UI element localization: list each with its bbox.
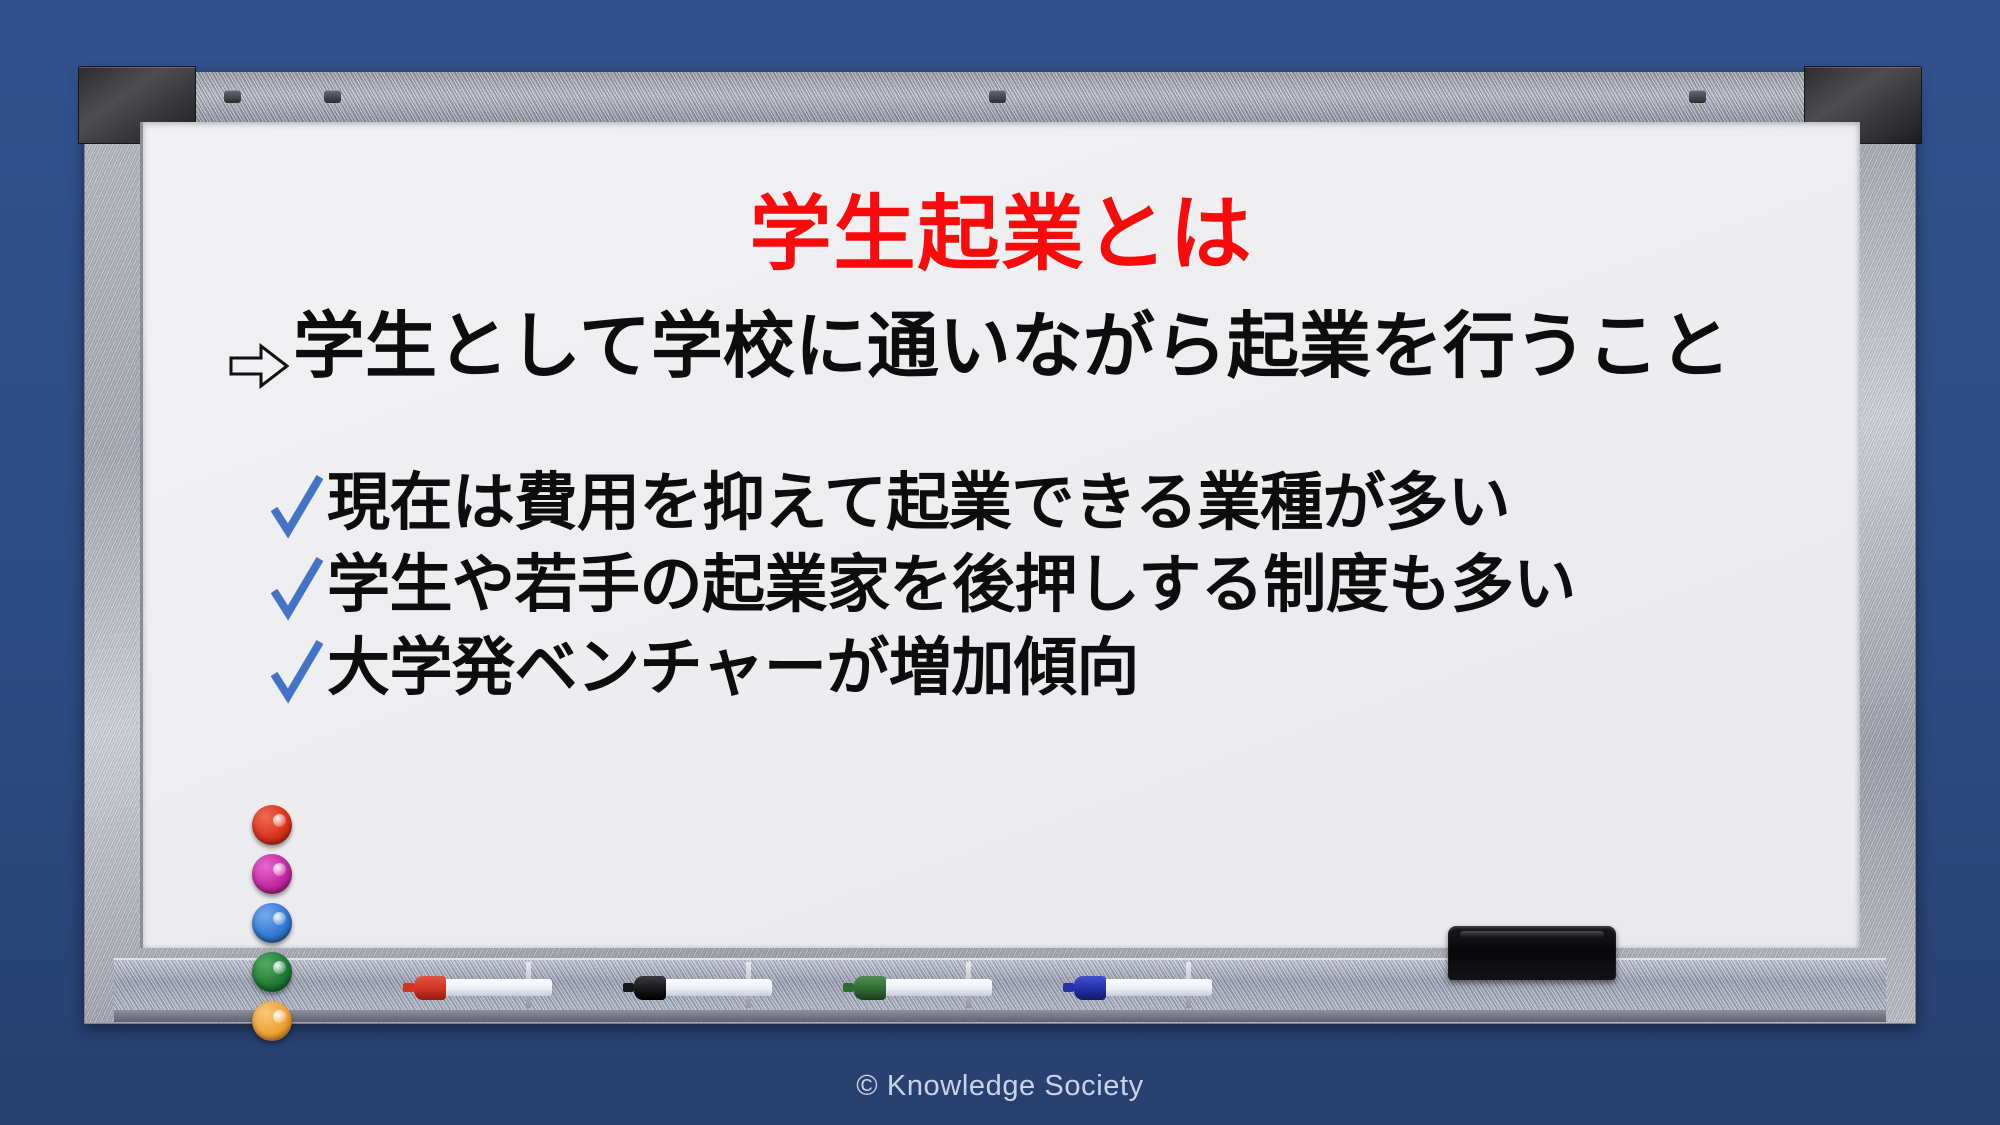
pen-tray: [114, 958, 1886, 1016]
marker-tip: [623, 983, 634, 992]
marker-tip: [843, 983, 854, 992]
list-item: 学生や若手の起業家を後押しする制度も多い: [271, 549, 1576, 621]
page-title: 学生起業とは: [143, 194, 1860, 276]
marker-cap: [1074, 976, 1106, 1000]
list-item: 現在は費用を抑えて起業できる業種が多い: [271, 467, 1576, 539]
pen-tray-surface: [114, 958, 1886, 1016]
marker-barrel: [1100, 979, 1212, 996]
check-mark-icon: [271, 555, 323, 621]
board-eraser[interactable]: [1448, 926, 1616, 980]
marker-barrel: [660, 979, 772, 996]
right-arrow-outline-icon: [229, 328, 289, 374]
frame-bolt: [224, 90, 241, 103]
list-item: 大学発ベンチャーが増加傾向: [271, 632, 1576, 704]
list-item-label: 現在は費用を抑えて起業できる業種が多い: [327, 467, 1510, 539]
slide-canvas: 学生起業とは 学生として学校に通いながら起業を行うこと: [0, 0, 2000, 1125]
whiteboard: 学生起業とは 学生として学校に通いながら起業を行うこと: [84, 72, 1916, 1024]
frame-bolt: [324, 90, 341, 103]
slide-content: 学生起業とは 学生として学校に通いながら起業を行うこと: [143, 122, 1860, 948]
marker-tip: [403, 983, 414, 992]
check-mark-icon: [271, 638, 323, 704]
list-item-label: 大学発ベンチャーが増加傾向: [327, 632, 1139, 704]
marker-barrel: [440, 979, 552, 996]
magnet-orange: [252, 1001, 292, 1041]
list-item-label: 学生や若手の起業家を後押しする制度も多い: [327, 549, 1576, 621]
check-mark-icon: [271, 473, 323, 539]
frame-bolt: [1689, 90, 1706, 103]
marker-tip: [1063, 983, 1074, 992]
bullet-list: 現在は費用を抑えて起業できる業種が多い 学生や若手の起業家を後押しする制度も多い: [271, 467, 1576, 704]
marker-barrel: [880, 979, 992, 996]
footer-copyright: © Knowledge Society: [0, 1070, 2000, 1103]
pen-tray-lip: [114, 1010, 1886, 1022]
magnet-magenta: [252, 854, 292, 894]
lead-statement-text: 学生として学校に通いながら起業を行うこと: [293, 310, 1731, 386]
magnet-green: [252, 952, 292, 992]
frame-bolt: [989, 90, 1006, 103]
whiteboard-surface: 学生起業とは 学生として学校に通いながら起業を行うこと: [140, 122, 1860, 948]
magnet-blue: [252, 903, 292, 943]
lead-statement: 学生として学校に通いながら起業を行うこと: [229, 310, 1731, 386]
magnet-red: [252, 805, 292, 845]
marker-cap: [414, 976, 446, 1000]
marker-cap: [634, 976, 666, 1000]
marker-cap: [854, 976, 886, 1000]
magnet-strip: [252, 805, 296, 1041]
